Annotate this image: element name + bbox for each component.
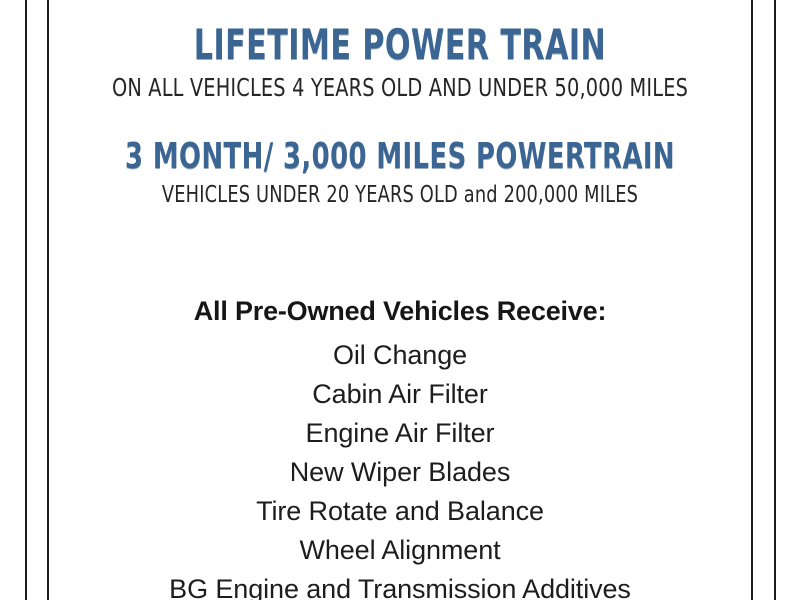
services-section-title: All Pre-Owned Vehicles Receive: <box>50 298 750 325</box>
border-rule-right-outer <box>774 0 776 600</box>
list-item: Oil Change <box>50 336 750 375</box>
list-item: Cabin Air Filter <box>50 375 750 414</box>
warranty-subtitle-lifetime: ON ALL VEHICLES 4 YEARS OLD AND UNDER 50… <box>99 75 701 101</box>
border-rule-left-outer <box>25 0 27 600</box>
warranty-flyer: LIFETIME POWER TRAIN ON ALL VEHICLES 4 Y… <box>0 0 800 600</box>
warranty-offer-three-month: 3 MONTH/ 3,000 MILES POWERTRAIN VEHICLES… <box>50 139 750 207</box>
flyer-content: LIFETIME POWER TRAIN ON ALL VEHICLES 4 Y… <box>50 0 750 600</box>
warranty-heading-three-month: 3 MONTH/ 3,000 MILES POWERTRAIN <box>120 139 680 175</box>
border-rule-left-inner <box>47 0 49 600</box>
warranty-offer-lifetime: LIFETIME POWER TRAIN ON ALL VEHICLES 4 Y… <box>50 24 750 101</box>
list-item: BG Engine and Transmission Additives <box>50 570 750 600</box>
border-rule-right-inner <box>751 0 753 600</box>
list-item: Tire Rotate and Balance <box>50 492 750 531</box>
warranty-subtitle-three-month: VEHICLES UNDER 20 YEARS OLD and 200,000 … <box>99 183 701 207</box>
services-list: Oil Change Cabin Air Filter Engine Air F… <box>50 336 750 600</box>
services-section: All Pre-Owned Vehicles Receive: Oil Chan… <box>50 298 750 600</box>
list-item: Engine Air Filter <box>50 414 750 453</box>
warranty-heading-lifetime: LIFETIME POWER TRAIN <box>120 24 680 66</box>
list-item: New Wiper Blades <box>50 453 750 492</box>
list-item: Wheel Alignment <box>50 531 750 570</box>
